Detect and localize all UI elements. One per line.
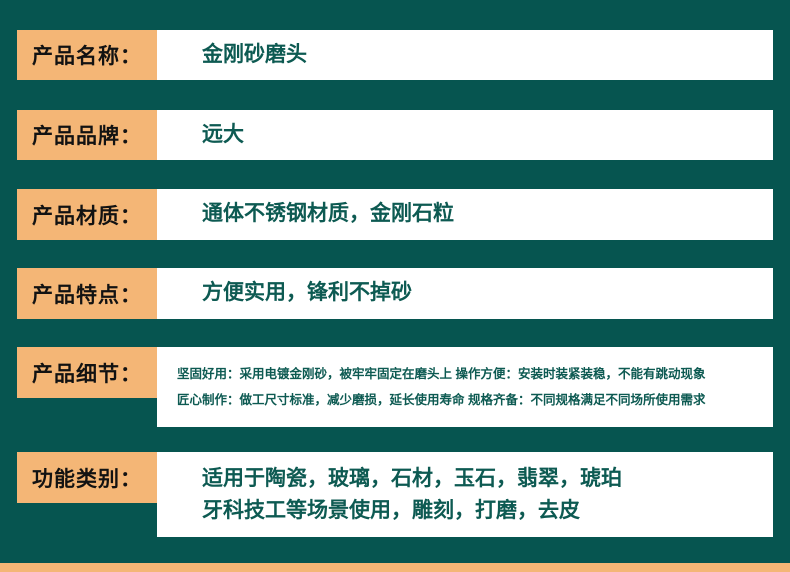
spec-row: 产品细节： 坚固好用：采用电镀金刚砂，被牢牢固定在磨头上 操作方便：安装时装紧装… bbox=[17, 347, 773, 427]
spec-row-value-panel: 适用于陶瓷，玻璃，石材，玉石，翡翠，琥珀 牙科技工等场景使用，雕刻，打磨，去皮 bbox=[157, 452, 773, 537]
spec-row: 产品名称： 金刚砂磨头 bbox=[17, 30, 773, 80]
spec-row-label: 产品名称： bbox=[17, 30, 157, 80]
spec-row-label: 功能类别： bbox=[17, 452, 157, 503]
spec-row-value-text: 金刚砂磨头 bbox=[157, 41, 773, 69]
spec-row-value-panel: 坚固好用：采用电镀金刚砂，被牢牢固定在磨头上 操作方便：安装时装紧装稳，不能有跳… bbox=[157, 347, 773, 427]
spec-row: 产品特点： 方便实用，锋利不掉砂 bbox=[17, 268, 773, 319]
spec-row: 产品材质： 通体不锈钢材质，金刚石粒 bbox=[17, 189, 773, 240]
spec-row-value-panel: 方便实用，锋利不掉砂 bbox=[157, 268, 773, 319]
spec-row-value-text: 远大 bbox=[157, 121, 773, 149]
spec-row-value-panel: 金刚砂磨头 bbox=[157, 30, 773, 80]
spec-row-label: 产品品牌： bbox=[17, 110, 157, 160]
spec-row-value-text: 适用于陶瓷，玻璃，石材，玉石，翡翠，琥珀 牙科技工等场景使用，雕刻，打磨，去皮 bbox=[157, 463, 773, 526]
spec-row: 产品品牌： 远大 bbox=[17, 110, 773, 160]
bottom-accent-bar bbox=[0, 563, 790, 572]
spec-row-value-text: 坚固好用：采用电镀金刚砂，被牢牢固定在磨头上 操作方便：安装时装紧装稳，不能有跳… bbox=[157, 361, 773, 414]
spec-row: 功能类别： 适用于陶瓷，玻璃，石材，玉石，翡翠，琥珀 牙科技工等场景使用，雕刻，… bbox=[17, 452, 773, 537]
spec-row-value-text: 方便实用，锋利不掉砂 bbox=[157, 279, 773, 307]
spec-row-label: 产品特点： bbox=[17, 268, 157, 319]
product-spec-sheet: 产品名称： 金刚砂磨头 产品品牌： 远大 产品材质： 通体不锈钢材质，金刚石粒 … bbox=[0, 0, 790, 572]
spec-row-label: 产品细节： bbox=[17, 347, 157, 398]
spec-row-value-panel: 通体不锈钢材质，金刚石粒 bbox=[157, 189, 773, 240]
spec-row-value-panel: 远大 bbox=[157, 110, 773, 160]
spec-row-value-text: 通体不锈钢材质，金刚石粒 bbox=[157, 200, 773, 228]
spec-row-label: 产品材质： bbox=[17, 189, 157, 240]
